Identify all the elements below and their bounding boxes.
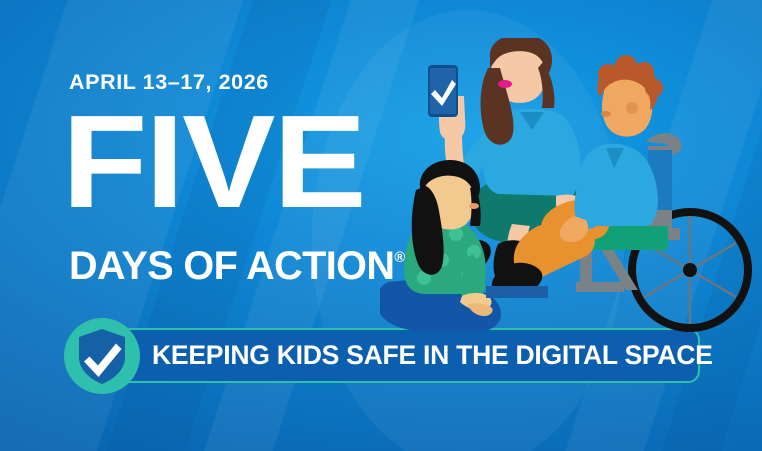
five-days-of-action-banner: APRIL 13–17, 2026 FIVE DAYS OF ACTION® K…: [0, 0, 762, 451]
page-title: FIVE: [62, 96, 365, 228]
page-subtitle: DAYS OF ACTION®: [69, 238, 405, 286]
shield-check-icon: [64, 318, 140, 394]
three-people-illustration: [380, 38, 762, 338]
page-subtitle-text: DAYS OF ACTION: [69, 244, 394, 288]
